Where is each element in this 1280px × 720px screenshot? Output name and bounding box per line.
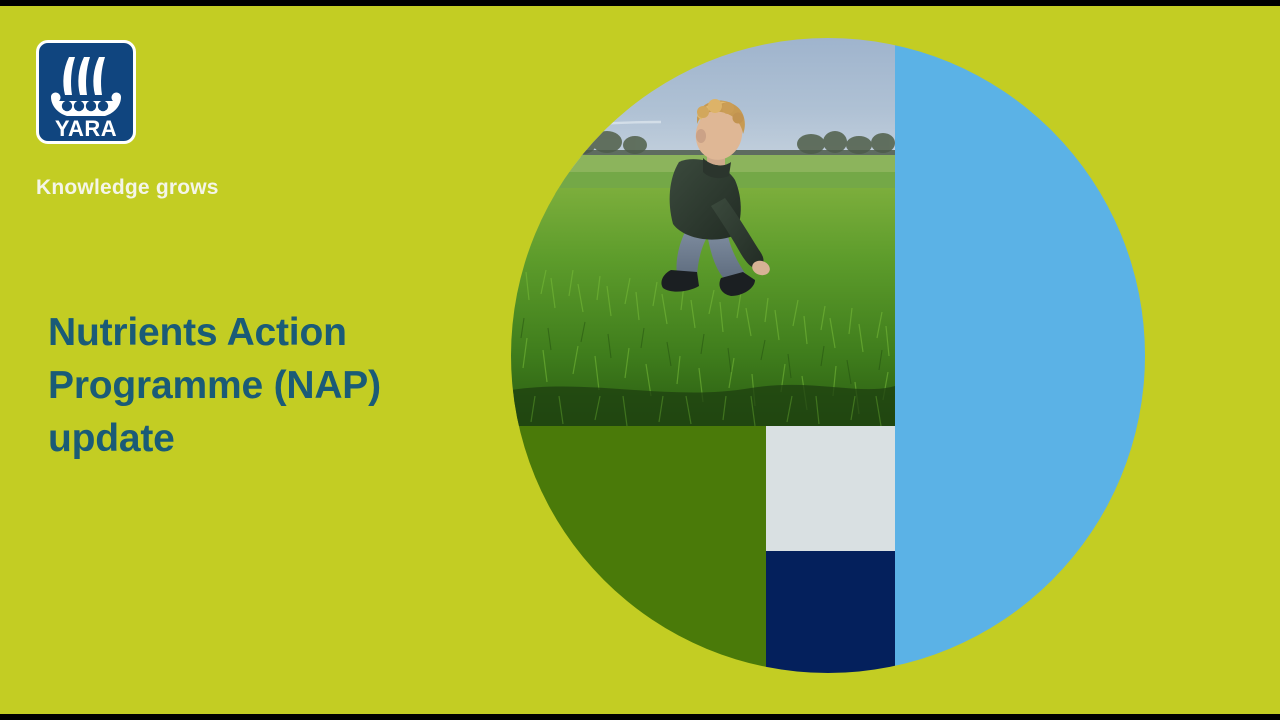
circular-composition (511, 38, 1145, 673)
light-gray-block (766, 426, 895, 551)
yara-logo-mark: YARA (39, 43, 133, 141)
navy-block (766, 551, 895, 673)
yara-logo: YARA (36, 40, 136, 144)
letterbox-bottom (0, 714, 1280, 720)
brand-tagline: Knowledge grows (36, 176, 219, 200)
dark-green-block (511, 426, 766, 673)
slide-title: Nutrients Action Programme (NAP) update (48, 306, 448, 465)
letterbox-top (0, 0, 1280, 6)
field-photograph-image (511, 38, 895, 426)
slide-canvas: YARA Knowledge grows Nutrients Action Pr… (0, 6, 1280, 714)
field-photograph (511, 38, 895, 426)
yara-wordmark: YARA (55, 116, 117, 141)
slide-root: YARA Knowledge grows Nutrients Action Pr… (0, 0, 1280, 720)
light-blue-block (895, 38, 1145, 673)
